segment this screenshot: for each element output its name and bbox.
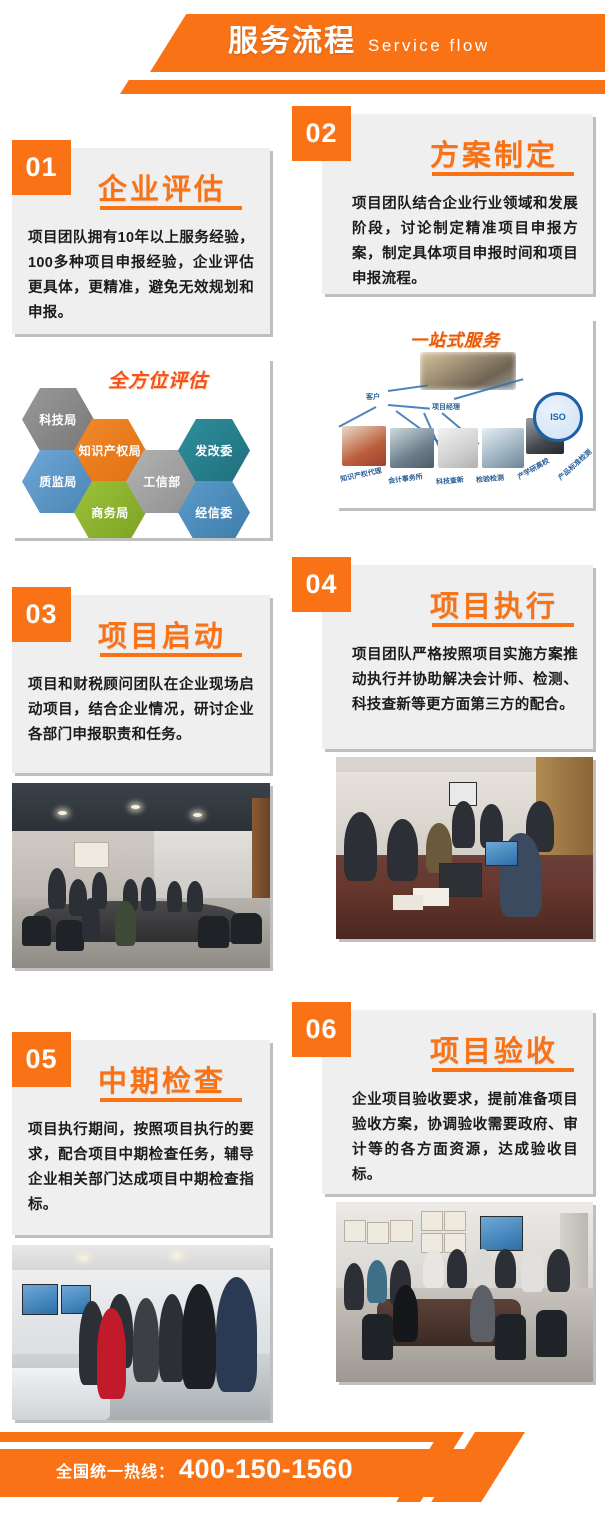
step-title: 项目启动 <box>98 613 226 655</box>
step-title: 项目验收 <box>430 1028 558 1070</box>
step-number-badge: 01 <box>12 140 71 195</box>
step-card-04[interactable]: 04 项目执行 项目团队严格按照项目实施方案推动执行并协助解决会计师、检测、科技… <box>322 565 593 749</box>
hotline-group: 全国统一热线： 400-150-1560 <box>56 1454 353 1485</box>
step-photo-03 <box>12 783 270 968</box>
onestop-node-testing <box>482 428 524 468</box>
onestop-arrow-7 <box>338 406 376 427</box>
step-number-badge: 03 <box>12 587 71 642</box>
step-number-badge: 06 <box>292 1002 351 1057</box>
onestop-bottom-label-2: 会计事务所 <box>387 472 423 487</box>
title-underline <box>432 172 574 176</box>
iso-seal-icon: ISO <box>533 392 583 442</box>
steps-grid: 01 企业评估 项目团队拥有10年以上服务经验，100多种项目申报经验，企业评估… <box>0 100 605 1450</box>
page-footer: 全国统一热线： 400-150-1560 <box>0 1432 605 1538</box>
step-title: 中期检查 <box>98 1058 226 1100</box>
onestop-node-ip <box>342 426 386 466</box>
page-title: 服务流程 <box>228 22 356 62</box>
title-underline <box>100 1098 242 1102</box>
title-underline <box>432 1068 574 1072</box>
title-underline <box>100 653 242 657</box>
step-description: 项目团队严格按照项目实施方案推动执行并协助解决会计师、检测、科技查新等更方面第三… <box>352 643 578 718</box>
onestop-arrow-2 <box>388 404 430 410</box>
onestop-label-manager: 项目经理 <box>432 402 460 412</box>
step-description: 项目执行期间，按照项目执行的要求，配合项目中期检查任务，辅导企业相关部门达成项目… <box>28 1118 254 1218</box>
step-card-03[interactable]: 03 项目启动 项目和财税顾问团队在企业现场启动项目，结合企业情况，研讨企业各部… <box>12 595 270 773</box>
step-number-badge: 05 <box>12 1032 71 1087</box>
onestop-label-client: 客户 <box>366 392 380 402</box>
step-photo-04 <box>336 757 593 939</box>
header-title-group: 服务流程 Service flow <box>228 22 490 66</box>
hotline-number[interactable]: 400-150-1560 <box>179 1454 353 1485</box>
steps-row-3: 05 中期检查 项目执行期间，按照项目执行的要求，配合项目中期检查任务，辅导企业… <box>0 1000 605 1450</box>
onestop-node-accounting <box>390 428 434 468</box>
title-underline <box>100 206 242 210</box>
hex-figure-title: 全方位评估 <box>108 366 208 393</box>
step-card-05[interactable]: 05 中期检查 项目执行期间，按照项目执行的要求，配合项目中期检查任务，辅导企业… <box>12 1040 270 1235</box>
step-photo-06 <box>336 1202 593 1382</box>
footer-accent-stripe <box>0 1432 456 1442</box>
onestop-bottom-label-1: 知识产权代理 <box>339 466 382 485</box>
steps-row-2: 03 项目启动 项目和财税顾问团队在企业现场启动项目，结合企业情况，研讨企业各部… <box>0 555 605 1000</box>
hexagon-assessment-figure: 全方位评估 科技局 质监局 知识产权局 商务局 工信部 发改委 经信委 <box>12 358 270 538</box>
onestop-figure-title: 一站式服务 <box>410 326 500 351</box>
onestop-bottom-label-3: 科技查新 <box>436 475 465 487</box>
step-number-badge: 02 <box>292 106 351 161</box>
page-header: 服务流程 Service flow <box>0 0 605 110</box>
steps-row-1: 01 企业评估 项目团队拥有10年以上服务经验，100多种项目申报经验，企业评估… <box>0 100 605 555</box>
title-underline <box>432 623 574 627</box>
step-card-06[interactable]: 06 项目验收 企业项目验收要求，提前准备项目验收方案，协调验收需要政府、审计等… <box>322 1010 593 1194</box>
step-card-02[interactable]: 02 方案制定 项目团队结合企业行业领域和发展阶段，讨论制定精准项目申报方案，制… <box>322 114 593 294</box>
header-accent-stripe <box>120 80 605 94</box>
onestop-node-search <box>438 428 478 468</box>
page-subtitle: Service flow <box>368 26 490 66</box>
step-photo-05 <box>12 1245 270 1420</box>
step-description: 项目团队结合企业行业领域和发展阶段，讨论制定精准项目申报方案，制定具体项目申报时… <box>352 192 578 292</box>
step-title: 项目执行 <box>430 583 558 625</box>
step-description: 项目团队拥有10年以上服务经验，100多种项目申报经验，企业评估更具体，更精准，… <box>28 226 254 326</box>
onestop-bottom-label-4: 检验检测 <box>476 473 505 485</box>
step-title: 方案制定 <box>430 132 558 174</box>
step-description: 企业项目验收要求，提前准备项目验收方案，协调验收需要政府、审计等的各方面资源，达… <box>352 1088 578 1188</box>
step-description: 项目和财税顾问团队在企业现场启动项目，结合企业情况，研讨企业各部门申报职责和任务… <box>28 673 254 748</box>
step-title: 企业评估 <box>98 166 226 208</box>
hotline-label: 全国统一热线： <box>56 1458 175 1482</box>
step-card-01[interactable]: 01 企业评估 项目团队拥有10年以上服务经验，100多种项目申报经验，企业评估… <box>12 148 270 334</box>
step-number-badge: 04 <box>292 557 351 612</box>
onestop-service-figure: 一站式服务 客户 项目经理 ISO 知识产权代理 会计事务所 科技查新 检验检测… <box>336 318 593 508</box>
